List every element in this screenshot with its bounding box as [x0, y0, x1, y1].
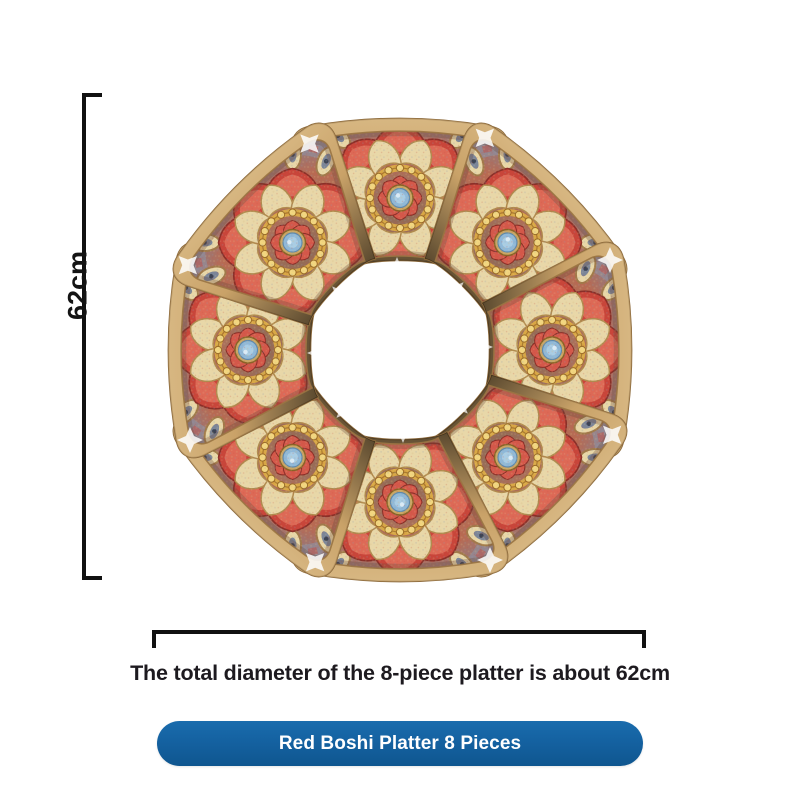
diameter-caption: The total diameter of the 8-piece platte…	[0, 661, 800, 686]
horizontal-dimension-bracket	[152, 630, 646, 650]
vertical-bracket-tick-bottom	[82, 576, 102, 580]
horizontal-bracket-stem	[152, 630, 646, 634]
platter-arrangement	[120, 70, 680, 630]
vertical-dimension-label: 62cm	[63, 226, 94, 346]
vertical-bracket-tick-top	[82, 93, 102, 97]
product-variant-button[interactable]: Red Boshi Platter 8 Pieces	[157, 721, 643, 766]
product-image-canvas: 62cm	[0, 0, 800, 800]
horizontal-bracket-tick-left	[152, 630, 156, 648]
horizontal-bracket-tick-right	[642, 630, 646, 648]
